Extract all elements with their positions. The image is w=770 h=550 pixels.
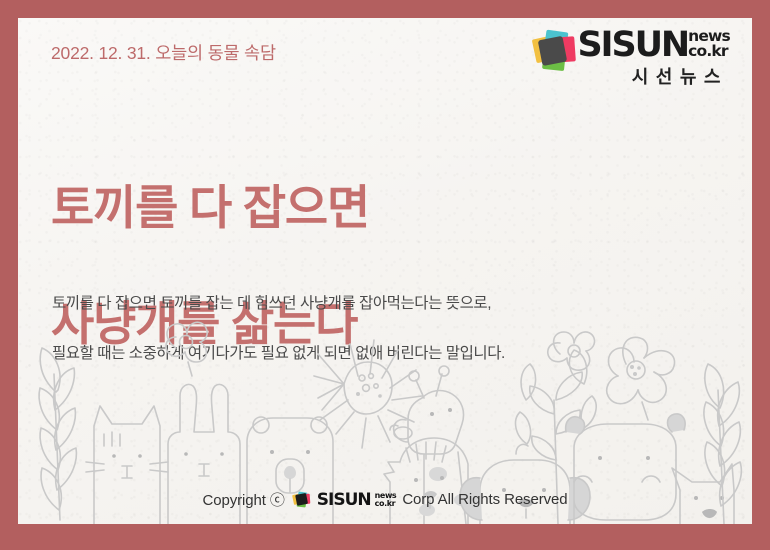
footer-brand-wordmark: SISUN <box>317 490 371 510</box>
sisun-wordmark: SISUN <box>577 28 688 62</box>
footer-logo-mark-icon <box>292 491 312 508</box>
dog-icon <box>460 444 590 524</box>
sisun-logo[interactable]: SISUN news co.kr 시선뉴스 <box>531 28 730 89</box>
dateline: 2022. 12. 31. 오늘의 동물 속담 <box>51 40 276 65</box>
sisun-logo-mark-icon <box>531 28 577 79</box>
footer-domain-stack: news co.kr <box>375 492 397 508</box>
headline-line-1: 토끼를 다 잡으면 <box>51 179 369 237</box>
sisun-domain-stack: news co.kr <box>688 29 730 59</box>
description-line-2: 필요할 때는 소중하게 여기다가도 필요 없게 되면 없애 버린다는 말입니다. <box>52 341 505 366</box>
footer-domain-cokr: co.kr <box>375 500 397 508</box>
sisun-logo-text: SISUN news co.kr 시선뉴스 <box>577 28 730 89</box>
card-paper-surface: 2022. 12. 31. 오늘의 동물 속담 SISUN news co.kr <box>18 18 752 524</box>
daisy-flower-icon <box>607 337 675 420</box>
proverb-description: 토끼를 다 잡으면 토끼를 잡는 데 힘쓰던 사냥개를 잡아먹는다는 뜻으로, … <box>52 266 505 391</box>
news-card: 2022. 12. 31. 오늘의 동물 속담 SISUN news co.kr <box>0 0 770 550</box>
description-line-1: 토끼를 다 잡으면 토끼를 잡는 데 힘쓰던 사냥개를 잡아먹는다는 뜻으로, <box>52 291 505 316</box>
copyright-prefix: Copyright ⓒ <box>203 489 285 510</box>
lion-icon <box>384 438 468 524</box>
copyright-suffix: Corp All Rights Reserved <box>402 491 567 508</box>
sisun-domain-cokr: co.kr <box>688 44 730 59</box>
small-daisy-icon <box>548 332 595 370</box>
sisun-korean-name: 시선뉴스 <box>632 63 730 89</box>
copyright-footer: Copyright ⓒ SISUN news co.kr Corp All Ri… <box>18 489 752 510</box>
